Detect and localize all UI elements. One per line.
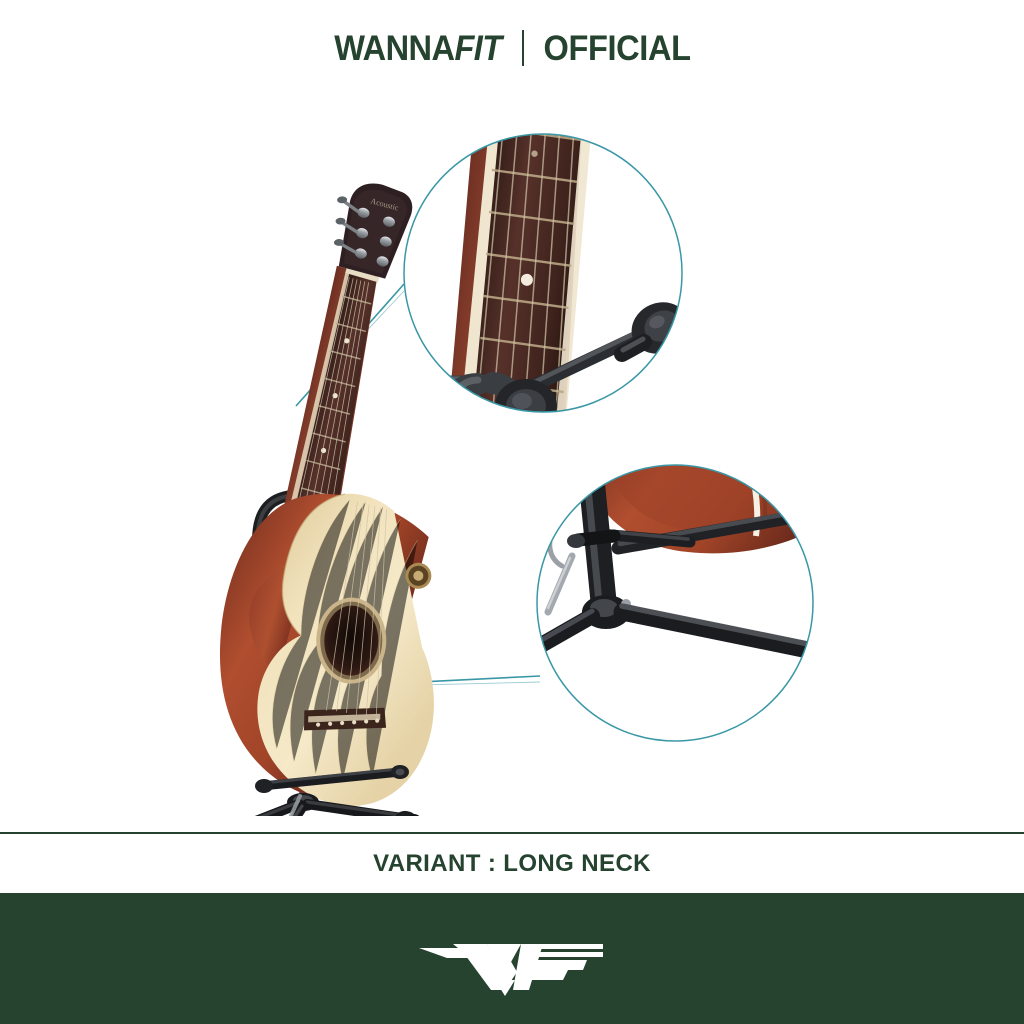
brand-header: WANNAFIT OFFICIAL [0, 24, 1024, 72]
guitar-body [182, 468, 486, 816]
brand-suffix: FIT [454, 29, 501, 68]
brand-wordmark: WANNAFIT [334, 31, 501, 66]
product-illustration: Acoustic [0, 96, 1024, 816]
variant-label: VARIANT : LONG NECK [373, 850, 651, 878]
brand-divider [522, 30, 524, 66]
brand-official-label: OFFICIAL [543, 31, 690, 66]
variant-band: VARIANT : LONG NECK [0, 832, 1024, 893]
guitar-headstock: Acoustic [320, 174, 417, 281]
callout-tripod-base [536, 438, 834, 741]
wannafit-wing-monogram-logo [417, 914, 607, 1004]
callout-neck-yoke [404, 96, 697, 451]
product-marketing-image: WANNAFIT OFFICIAL [0, 0, 1024, 1024]
brand-footer [0, 893, 1024, 1024]
product-stage: Acoustic [0, 96, 1024, 816]
guitar-bridge [304, 706, 386, 731]
brand-prefix: WANNA [334, 29, 454, 68]
